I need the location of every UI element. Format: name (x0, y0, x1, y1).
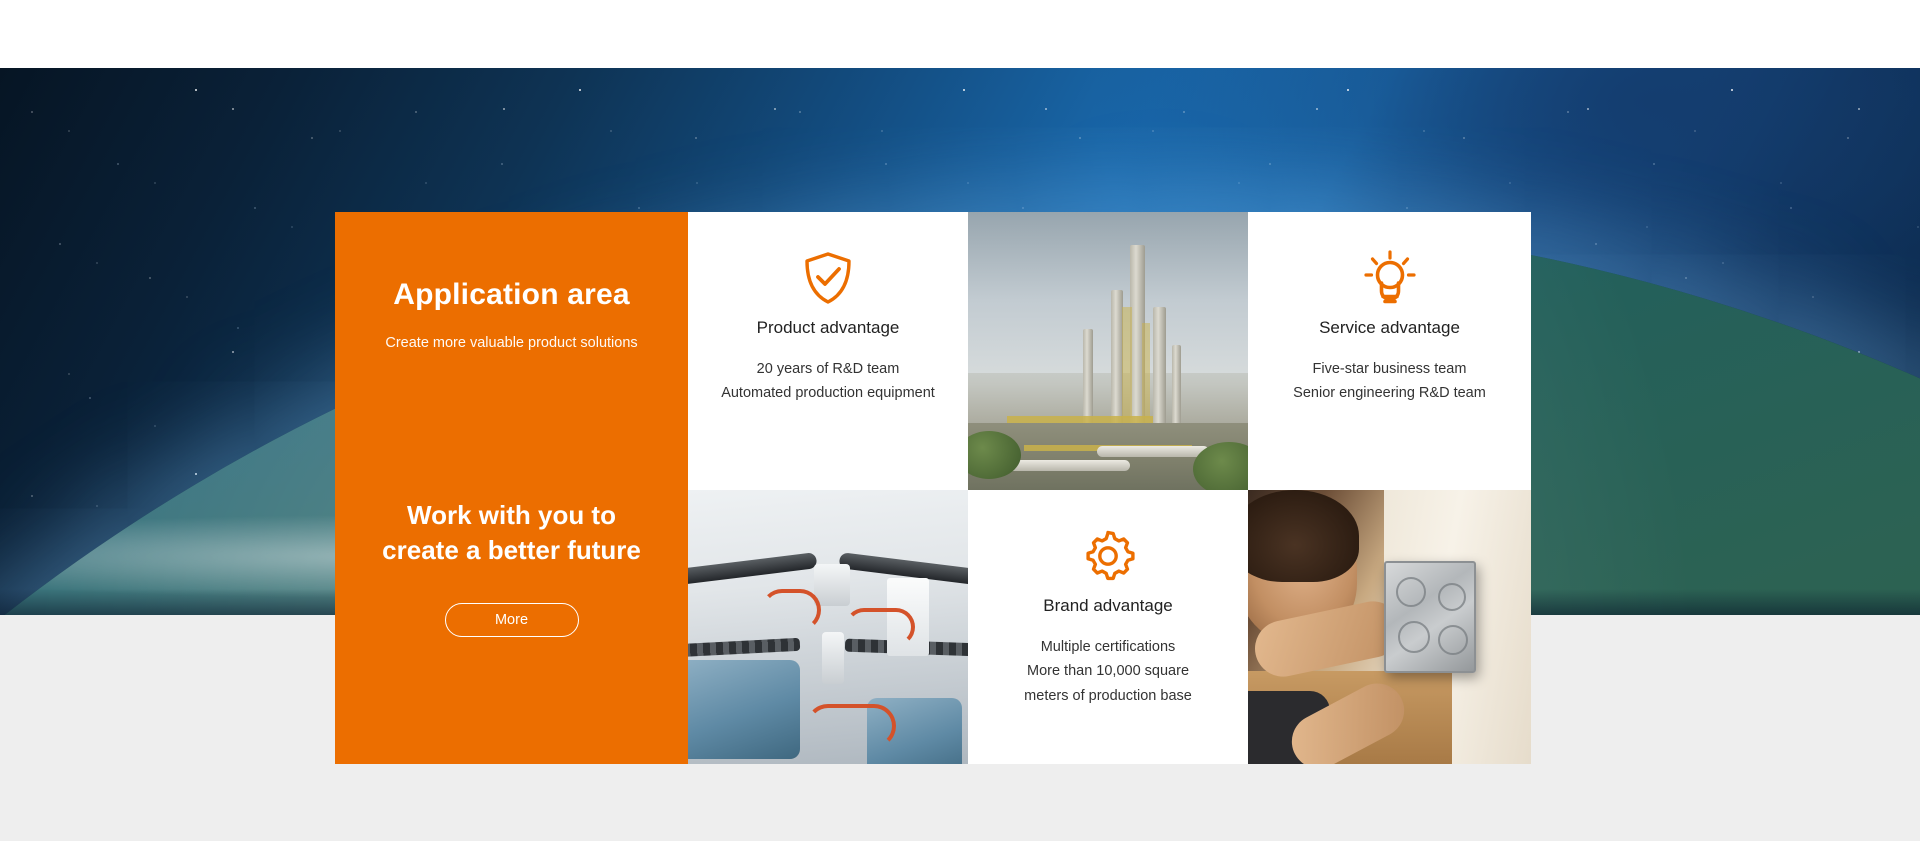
promo-panel: Application area Create more valuable pr… (335, 212, 688, 764)
card-brand-advantage[interactable]: Brand advantage Multiple certifications … (968, 490, 1248, 764)
automation-rail (688, 552, 817, 586)
refinery-gantry (1007, 416, 1153, 423)
refinery-steel-frame (1122, 307, 1132, 418)
refinery-steel-frame (1142, 323, 1150, 418)
card-line: Multiple certifications (1024, 635, 1192, 659)
card-line: 20 years of R&D team (721, 357, 935, 381)
card-product-advantage[interactable]: Product advantage 20 years of R&D team A… (688, 212, 968, 490)
card-description: Five-star business team Senior engineeri… (1293, 357, 1486, 406)
electrician-hair (1248, 490, 1359, 582)
card-line: Automated production equipment (721, 381, 935, 405)
card-line: Five-star business team (1293, 357, 1486, 381)
promo-slogan-line-2: create a better future (382, 533, 641, 568)
robotic-gripper (814, 564, 850, 606)
automation-motor (688, 660, 800, 759)
promo-slogan-line-1: Work with you to (382, 498, 641, 533)
card-line: meters of production base (1024, 684, 1192, 708)
knockout-hole (1438, 583, 1466, 611)
promo-slogan: Work with you to create a better future (382, 498, 641, 568)
more-button[interactable]: More (445, 603, 579, 637)
knockout-hole (1396, 577, 1426, 607)
knockout-hole (1398, 621, 1430, 653)
shield-check-icon (802, 250, 854, 306)
top-white-strip (0, 0, 1920, 68)
robotic-gripper-arm (822, 632, 844, 684)
refinery-sky (968, 212, 1248, 373)
automation-cable (806, 704, 896, 748)
page-subtitle: Create more valuable product solutions (385, 333, 637, 353)
refinery-tower (1153, 307, 1166, 429)
automation-photo (688, 490, 968, 764)
refinery-tower (1111, 290, 1123, 429)
refinery-photo (968, 212, 1248, 490)
card-line: More than 10,000 square (1024, 659, 1192, 683)
electrician-photo (1248, 490, 1531, 764)
automation-cable (761, 589, 821, 631)
card-description: Multiple certifications More than 10,000… (1024, 635, 1192, 708)
page-title: Application area (393, 278, 630, 313)
automation-cable (845, 608, 915, 646)
knockout-hole (1438, 625, 1468, 655)
card-service-advantage[interactable]: Service advantage Five-star business tea… (1248, 212, 1531, 490)
automation-chain (688, 637, 800, 656)
refinery-pipe (1097, 446, 1209, 457)
card-title: Service advantage (1319, 318, 1460, 338)
card-title: Product advantage (757, 318, 900, 338)
gear-icon (1080, 528, 1136, 584)
electrical-junction-box (1384, 561, 1476, 673)
card-description: 20 years of R&D team Automated productio… (721, 357, 935, 406)
card-title: Brand advantage (1043, 596, 1173, 616)
refinery-tower (1083, 329, 1093, 429)
features-grid: Application area Create more valuable pr… (335, 212, 1531, 764)
refinery-tower (1172, 345, 1181, 428)
card-line: Senior engineering R&D team (1293, 381, 1486, 405)
lightbulb-icon (1363, 250, 1417, 306)
